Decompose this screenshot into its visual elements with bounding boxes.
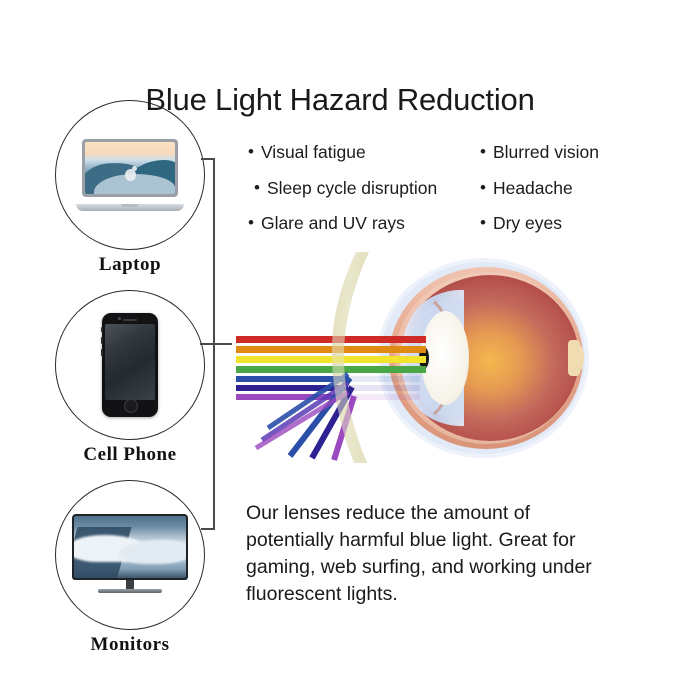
ray-blue-incoming [236, 376, 348, 382]
bullet-dot-icon: • [248, 142, 254, 162]
monitor-foot [98, 589, 162, 593]
monitor-screen-wallpaper [74, 516, 186, 578]
laptop-icon [76, 139, 184, 211]
monitor-circle-frame [55, 480, 205, 630]
symptom-item: • Blurred vision [480, 142, 650, 163]
light-spectrum-rays [236, 252, 426, 463]
laptop-trackpad-notch [121, 204, 139, 207]
laptop-lid [82, 139, 178, 197]
symptom-label: Blurred vision [493, 142, 599, 163]
bracket-cap-top [201, 158, 215, 160]
phone-circle-frame [55, 290, 205, 440]
symptom-label: Dry eyes [493, 213, 562, 234]
bullet-dot-icon: • [254, 178, 260, 198]
page-title: Blue Light Hazard Reduction [0, 82, 680, 118]
ray-orange [236, 346, 426, 353]
phone-camera [118, 317, 121, 320]
ray-yellow [236, 356, 426, 363]
phone-screen [105, 324, 155, 400]
device-label-laptop: Laptop [50, 254, 210, 276]
symptom-item: • Glare and UV rays [248, 213, 478, 234]
ray-indigo-blocked [348, 385, 420, 391]
phone-mute-switch [101, 327, 103, 332]
ray-red [236, 336, 426, 343]
smartphone-icon [102, 313, 158, 417]
device-item-laptop[interactable]: Laptop [50, 100, 210, 276]
device-item-monitors[interactable]: Monitors [50, 480, 210, 656]
marketing-paragraph: Our lenses reduce the amount of potentia… [246, 500, 614, 608]
symptom-item: • Sleep cycle disruption [248, 178, 478, 199]
device-item-cell-phone[interactable]: Cell Phone [50, 290, 210, 466]
phone-volume-up [101, 337, 103, 344]
apple-logo-icon [125, 169, 136, 181]
symptom-item: • Visual fatigue [248, 142, 478, 163]
monitor-panel [72, 514, 188, 580]
bullet-dot-icon: • [480, 213, 486, 233]
symptom-label: Headache [493, 178, 573, 199]
eye-cross-section-diagram [228, 250, 600, 465]
infographic-canvas: Laptop Cell Phone [0, 0, 680, 680]
device-group-bracket [196, 158, 232, 530]
optic-nerve-head [568, 340, 580, 376]
device-label-monitors: Monitors [50, 634, 210, 656]
ray-violet-blocked [348, 394, 420, 400]
symptom-item: • Dry eyes [480, 213, 650, 234]
bullet-dot-icon: • [480, 142, 486, 162]
ray-green [236, 366, 426, 373]
symptom-label: Visual fatigue [261, 142, 366, 163]
symptom-item: • Headache [480, 178, 650, 199]
phone-home-button [124, 399, 138, 413]
symptom-column-right: • Blurred vision • Headache • Dry eyes [480, 142, 650, 249]
symptom-label: Sleep cycle disruption [267, 178, 437, 199]
phone-volume-down [101, 349, 103, 356]
symptom-column-left: • Visual fatigue • Sleep cycle disruptio… [248, 142, 478, 249]
device-label-cell-phone: Cell Phone [50, 444, 210, 466]
diagram-svg [228, 250, 600, 465]
laptop-screen-wallpaper [85, 142, 175, 194]
bracket-cap-bottom [201, 528, 215, 530]
ray-blue-blocked [348, 376, 420, 382]
monitor-icon [72, 514, 188, 596]
symptom-label: Glare and UV rays [261, 213, 405, 234]
bullet-dot-icon: • [480, 178, 486, 198]
phone-earpiece [123, 319, 137, 321]
laptop-circle-frame [55, 100, 205, 250]
bullet-dot-icon: • [248, 213, 254, 233]
